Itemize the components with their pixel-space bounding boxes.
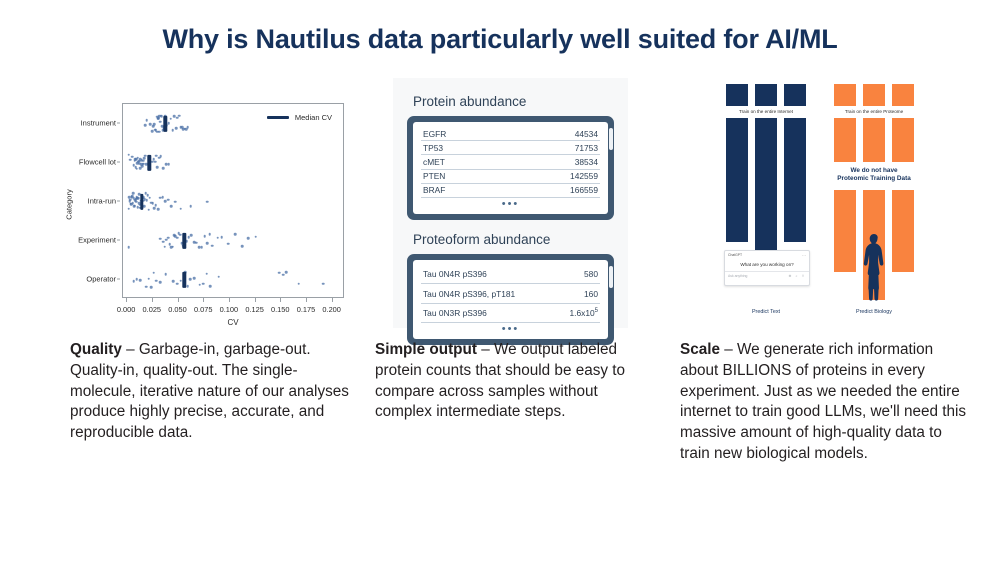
chart-data-point <box>150 286 153 289</box>
chart-x-label: 0.075 <box>194 305 213 314</box>
chart-data-point <box>161 196 164 199</box>
panel-simple-output: Protein abundance EGFR44534TP5371753cMET… <box>375 78 645 328</box>
chart-y-tick <box>117 161 120 162</box>
chart-data-point <box>127 154 130 157</box>
chart-data-point <box>143 157 146 160</box>
chart-data-point <box>179 207 182 210</box>
chart-y-label-experiment: Experiment <box>78 235 116 244</box>
predict-biology-label: Predict Biology <box>856 309 892 315</box>
proteome-bar-top-1 <box>834 84 856 106</box>
chart-x-label: 0.000 <box>117 305 136 314</box>
chart-data-point <box>200 246 203 249</box>
chart-data-point <box>247 237 250 240</box>
proteome-bar-top-2 <box>863 84 885 106</box>
abundance-row: Tau 0N3R pS3961.6x105 <box>421 304 600 323</box>
chart-data-point <box>297 283 300 286</box>
median-cv-legend-swatch <box>267 116 289 119</box>
chart-median-marker <box>140 193 143 209</box>
internet-bar-top-1 <box>726 84 748 106</box>
chart-data-point <box>155 280 158 283</box>
panel-scale-diagram: Train on the entire Internet ChatGPT ⋯ W… <box>680 78 965 328</box>
caption-quality-lead: Quality <box>70 341 122 358</box>
chart-data-point <box>322 283 325 286</box>
chart-x-tick <box>229 298 230 302</box>
panel-quality-chart: Category InstrumentFlowcell lotIntra-run… <box>70 78 370 328</box>
proteome-bar-low-1 <box>834 190 856 272</box>
chart-data-point <box>151 130 154 133</box>
caption-scale-lead: Scale <box>680 341 720 358</box>
chart-data-point <box>211 244 214 247</box>
chart-data-point <box>129 198 132 201</box>
abundance-row: PTEN142559 <box>421 170 600 184</box>
protein-abundance-heading: Protein abundance <box>413 94 614 109</box>
chart-x-label: 0.025 <box>143 305 162 314</box>
chart-y-label-operator: Operator <box>86 274 116 283</box>
human-body-icon <box>858 233 890 305</box>
median-cv-legend-label: Median CV <box>295 113 332 122</box>
chart-data-point <box>158 130 161 133</box>
abundance-row-name: BRAF <box>423 185 445 195</box>
chart-data-point <box>132 192 135 195</box>
chart-data-point <box>167 122 170 125</box>
caption-scale: Scale – We generate rich information abo… <box>680 340 970 465</box>
chart-data-point <box>154 160 157 163</box>
chart-plot-area: Median CV <box>122 103 344 298</box>
abundance-figure: Protein abundance EGFR44534TP5371753cMET… <box>393 78 628 328</box>
chart-data-point <box>186 285 189 288</box>
abundance-row: cMET38534 <box>421 155 600 169</box>
chart-data-point <box>129 159 132 162</box>
chart-data-point <box>169 117 172 120</box>
chart-data-point <box>148 197 151 200</box>
chart-data-point <box>174 200 177 203</box>
chart-data-point <box>190 205 193 208</box>
chart-data-point <box>202 282 205 285</box>
caption-scale-body: We generate rich information about BILLI… <box>680 341 966 462</box>
proteome-bar-mid-1 <box>834 118 856 162</box>
chart-y-label-instrument: Instrument <box>81 118 116 127</box>
chart-x-axis-title: CV <box>122 318 344 327</box>
chart-data-point <box>175 127 178 130</box>
chart-data-point <box>176 237 179 240</box>
chart-data-point <box>145 119 148 122</box>
chart-x-tick <box>306 298 307 302</box>
predict-text-label: Predict Text <box>752 309 780 315</box>
abundance-row-value: 160 <box>584 289 598 299</box>
chart-data-point <box>209 233 212 236</box>
chart-x-tick <box>332 298 333 302</box>
chart-data-point <box>241 245 244 248</box>
chart-data-point <box>147 277 150 280</box>
chart-x-label: 0.050 <box>168 305 187 314</box>
chart-data-point <box>127 207 130 210</box>
no-proteomic-data-line1: We do not have <box>837 167 911 175</box>
chart-data-point <box>178 114 181 117</box>
chart-y-tick <box>117 239 120 240</box>
chart-data-point <box>167 198 170 201</box>
chart-x-tick <box>255 298 256 302</box>
train-proteome-label: Train on the entire Proteome <box>845 109 903 114</box>
chat-brand-label: ChatGPT <box>728 253 742 257</box>
chart-data-point <box>139 279 142 282</box>
abundance-row: EGFR44534 <box>421 127 600 141</box>
chart-x-label: 0.100 <box>220 305 239 314</box>
strip-chart: Category InstrumentFlowcell lotIntra-run… <box>70 78 370 328</box>
chart-data-point <box>144 154 147 157</box>
chart-y-tick <box>117 200 120 201</box>
abundance-more-ellipsis[interactable]: ••• <box>421 323 600 337</box>
chart-data-point <box>145 285 148 288</box>
chart-data-point <box>170 205 173 208</box>
chart-y-tick-labels: InstrumentFlowcell lotIntra-runExperimen… <box>70 103 120 298</box>
chart-data-point <box>157 208 160 211</box>
caption-simple-output-dash: – <box>477 341 494 358</box>
chart-data-point <box>193 277 196 280</box>
chart-x-tick <box>280 298 281 302</box>
chart-data-point <box>179 233 182 236</box>
internet-bar-mid-1 <box>726 118 748 242</box>
abundance-row-name: TP53 <box>423 143 443 153</box>
chart-y-label-flowcell-lot: Flowcell lot <box>79 157 116 166</box>
proteoform-abundance-device: Tau 0N4R pS396580Tau 0N4R pS396, pT18116… <box>407 254 614 345</box>
internet-bar-mid-3 <box>784 118 806 242</box>
abundance-row-name: Tau 0N3R pS396 <box>423 308 487 318</box>
chart-plot-wrapper: Median CV <box>122 103 344 298</box>
chart-data-point <box>167 237 170 240</box>
chat-input-icons[interactable]: ⊕ ⌕ ⇧ <box>788 274 806 278</box>
proteome-bar-low-3 <box>892 190 914 272</box>
chart-data-point <box>220 236 223 239</box>
chart-median-marker <box>182 271 185 287</box>
chart-data-point <box>159 237 162 240</box>
chart-data-point <box>145 199 148 202</box>
abundance-row: TP5371753 <box>421 141 600 155</box>
chart-data-point <box>159 281 162 284</box>
chat-menu-icon[interactable]: ⋯ <box>802 253 806 258</box>
chart-x-label: 0.125 <box>245 305 264 314</box>
chart-data-point <box>234 233 237 236</box>
chat-input-placeholder[interactable]: Ask anything <box>728 274 747 278</box>
chart-data-point <box>147 208 150 211</box>
internet-bar-top-2 <box>755 84 777 106</box>
abundance-row-name: cMET <box>423 157 445 167</box>
caption-quality-dash: – <box>122 341 139 358</box>
proteome-bar-mid-3 <box>892 118 914 162</box>
abundance-row-name: Tau 0N4R pS396, pT181 <box>423 289 515 299</box>
chart-data-point <box>155 204 158 207</box>
training-diagram: Train on the entire Internet ChatGPT ⋯ W… <box>710 78 930 328</box>
internet-bar-top-3 <box>784 84 806 106</box>
chat-prompt-question: What are you working on? <box>725 259 809 271</box>
chart-x-tick <box>126 298 127 302</box>
chart-data-point <box>203 235 206 238</box>
chart-data-point <box>195 242 198 245</box>
chart-data-point <box>159 155 162 158</box>
chart-data-point <box>278 272 281 275</box>
chart-data-point <box>153 271 156 274</box>
chart-data-point <box>206 200 209 203</box>
chat-input-row[interactable]: Ask anything ⊕ ⌕ ⇧ <box>725 271 809 280</box>
abundance-row-value: 38534 <box>575 157 598 167</box>
chart-data-point <box>136 167 139 170</box>
proteome-bar-mid-2 <box>863 118 885 162</box>
abundance-row-name: EGFR <box>423 129 446 139</box>
chart-x-tick <box>152 298 153 302</box>
proteoform-abundance-heading: Proteoform abundance <box>413 232 614 247</box>
chart-data-point <box>282 274 285 277</box>
protein-abundance-screen[interactable]: EGFR44534TP5371753cMET38534PTEN142559BRA… <box>413 122 608 214</box>
no-proteomic-data-line2: Proteomic Training Data <box>837 175 911 183</box>
chart-data-point <box>152 125 155 128</box>
chart-y-tick <box>117 278 120 279</box>
chart-data-point <box>159 120 162 123</box>
abundance-row: Tau 0N4R pS396, pT181160 <box>421 284 600 303</box>
abundance-row-value: 142559 <box>570 171 598 181</box>
chart-data-point <box>163 246 166 249</box>
proteome-bar-top-3 <box>892 84 914 106</box>
chart-legend: Median CV <box>262 110 337 125</box>
chart-data-point <box>153 207 156 210</box>
chart-data-point <box>172 245 175 248</box>
chart-x-tick <box>203 298 204 302</box>
train-internet-label: Train on the entire Internet <box>739 109 793 114</box>
chart-x-label: 0.200 <box>322 305 341 314</box>
chart-data-point <box>136 278 139 281</box>
chart-data-point <box>217 275 220 278</box>
chart-data-point <box>254 236 257 239</box>
chart-data-point <box>216 236 219 239</box>
chart-y-label-intra-run: Intra-run <box>88 196 116 205</box>
chart-data-point <box>132 280 135 283</box>
chart-data-point <box>162 241 165 244</box>
chart-x-tick-labels: 0.0000.0250.0500.0750.1000.1250.1500.175… <box>122 301 344 317</box>
abundance-row-name: PTEN <box>423 171 445 181</box>
slide-root: Why is Nautilus data particularly well s… <box>0 0 1000 563</box>
chart-median-marker <box>163 115 166 131</box>
chart-data-point <box>176 283 179 286</box>
chart-data-point <box>189 278 192 281</box>
no-proteomic-data-note: We do not have Proteomic Training Data <box>837 167 911 183</box>
protein-list-scrollbar[interactable] <box>609 128 613 150</box>
chart-median-marker <box>148 154 151 170</box>
chart-data-point <box>164 273 167 276</box>
abundance-row-value: 71753 <box>575 143 598 153</box>
chart-data-point <box>156 166 159 169</box>
page-title: Why is Nautilus data particularly well s… <box>0 24 1000 55</box>
abundance-more-ellipsis[interactable]: ••• <box>421 198 600 212</box>
chat-header: ChatGPT ⋯ <box>725 251 809 259</box>
chart-data-point <box>198 284 201 287</box>
chart-data-point <box>127 246 130 249</box>
chart-data-point <box>172 280 175 283</box>
proteoform-abundance-screen[interactable]: Tau 0N4R pS396580Tau 0N4R pS396, pT18116… <box>413 260 608 339</box>
chart-x-tick <box>178 298 179 302</box>
chart-data-point <box>144 124 147 127</box>
abundance-row-name: Tau 0N4R pS396 <box>423 269 487 279</box>
chart-data-point <box>153 123 156 126</box>
chart-data-point <box>167 163 170 166</box>
chart-data-point <box>227 242 230 245</box>
chart-median-marker <box>182 232 185 248</box>
chart-data-point <box>185 240 188 243</box>
chart-x-label: 0.150 <box>271 305 290 314</box>
caption-simple-output-lead: Simple output <box>375 341 477 358</box>
chart-data-point <box>205 273 208 276</box>
abundance-row-value: 1.6x105 <box>570 308 599 318</box>
abundance-row: BRAF166559 <box>421 184 600 198</box>
abundance-row: Tau 0N4R pS396580 <box>421 265 600 284</box>
chart-data-point <box>209 285 212 288</box>
abundance-row-value: 166559 <box>570 185 598 195</box>
chart-data-point <box>190 234 193 237</box>
abundance-row-value: 44534 <box>575 129 598 139</box>
abundance-row-value: 580 <box>584 269 598 279</box>
chart-data-point <box>186 126 189 129</box>
caption-scale-dash: – <box>720 341 737 358</box>
chart-x-label: 0.175 <box>297 305 316 314</box>
proteoform-list-scrollbar[interactable] <box>609 266 613 288</box>
chart-data-point <box>162 167 165 170</box>
caption-quality: Quality – Garbage-in, garbage-out. Quali… <box>70 340 352 444</box>
protein-abundance-device: EGFR44534TP5371753cMET38534PTEN142559BRA… <box>407 116 614 220</box>
chat-interface[interactable]: ChatGPT ⋯ What are you working on? Ask a… <box>724 250 810 286</box>
chart-data-point <box>206 242 209 245</box>
chart-y-tick <box>117 122 120 123</box>
caption-simple-output: Simple output – We output labeled protei… <box>375 340 637 423</box>
abundance-row-exponent: 5 <box>595 308 598 314</box>
chart-data-point <box>285 271 288 274</box>
